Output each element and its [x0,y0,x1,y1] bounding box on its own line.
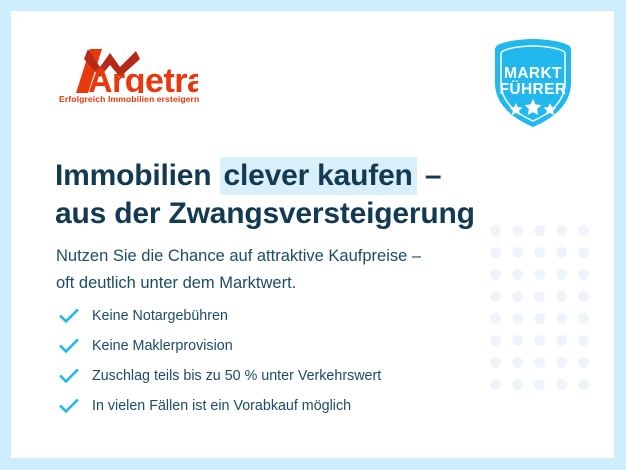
dot [512,269,523,280]
dot-grid-decoration [490,225,600,401]
banner-card: Argetra Erfolgreich Immobilien ersteiger… [11,11,614,458]
dot [556,379,567,390]
check-icon [59,338,79,354]
dot [578,379,589,390]
dot [556,247,567,258]
banner-frame: Argetra Erfolgreich Immobilien ersteiger… [0,0,626,470]
markt-fuehrer-badge: MARKT FÜHRER [488,37,578,134]
list-item-label: Keine Notargebühren [92,309,228,323]
benefits-list: Keine Notargebühren Keine Maklerprovisio… [59,301,381,421]
list-item: Zuschlag teils bis zu 50 % unter Verkehr… [59,361,381,391]
dot [512,313,523,324]
dot [578,291,589,302]
dot [534,357,545,368]
dot [490,225,501,236]
dot [512,379,523,390]
dot [556,291,567,302]
badge-line1: MARKT [504,65,562,82]
list-item-label: In vielen Fällen ist ein Vorabkauf mögli… [92,399,351,413]
dot [490,313,501,324]
dot [512,225,523,236]
dot [512,291,523,302]
svg-text:Argetra: Argetra [88,62,198,93]
list-item-label: Keine Maklerprovision [92,339,233,353]
dot [578,335,589,346]
list-item: Keine Notargebühren [59,301,381,331]
dot [556,225,567,236]
dot [490,291,501,302]
dot [534,335,545,346]
dot [556,335,567,346]
check-icon [59,368,79,384]
dot [578,357,589,368]
argetra-logo[interactable]: Argetra Erfolgreich Immobilien ersteiger… [58,47,199,104]
badge-line2: FÜHRER [500,81,567,98]
dot [534,291,545,302]
dot [534,379,545,390]
dot [512,335,523,346]
dot [490,269,501,280]
subheadline-line-1: Nutzen Sie die Chance auf attraktive Kau… [56,243,421,270]
dot [512,247,523,258]
headline: Immobilien clever kaufen – aus der Zwang… [55,157,475,233]
dot [556,357,567,368]
dot [490,379,501,390]
dot [578,225,589,236]
dot [534,313,545,324]
list-item-label: Zuschlag teils bis zu 50 % unter Verkehr… [92,369,381,383]
dot [534,225,545,236]
list-item: In vielen Fällen ist ein Vorabkauf mögli… [59,391,381,421]
dot [556,313,567,324]
headline-highlight: clever kaufen [220,157,417,195]
dot [534,247,545,258]
headline-prefix: Immobilien [55,159,220,192]
shield-badge: MARKT FÜHRER [488,37,578,129]
headline-line-1: Immobilien clever kaufen – [55,157,475,195]
logo-tagline: Erfolgreich Immobilien ersteigern [59,94,199,104]
dot [490,357,501,368]
dot [534,269,545,280]
dot [556,269,567,280]
check-icon [59,398,79,414]
dot [490,247,501,258]
check-icon [59,308,79,324]
headline-suffix: – [417,159,442,192]
dot [578,269,589,280]
subheadline-line-2: oft deutlich unter dem Marktwert. [56,270,421,297]
argetra-a-roof-logo: Argetra [58,47,198,93]
dot [578,313,589,324]
list-item: Keine Maklerprovision [59,331,381,361]
subheadline: Nutzen Sie die Chance auf attraktive Kau… [56,243,421,297]
dot [578,247,589,258]
headline-line-2: aus der Zwangsversteigerung [55,195,475,233]
dot [512,357,523,368]
dot [490,335,501,346]
